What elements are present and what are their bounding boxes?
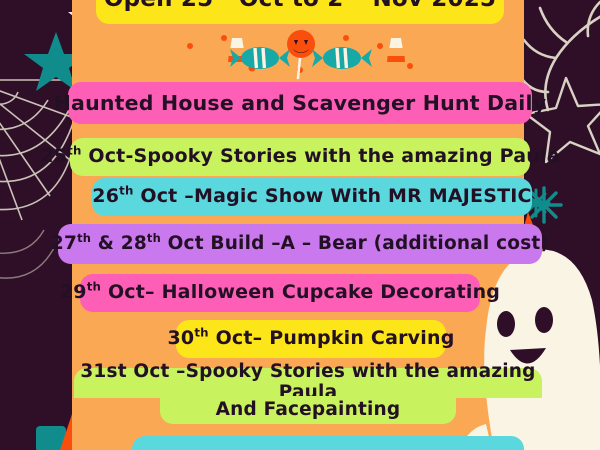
banner-oct-25-label: 25th Oct-Spooky Stories with the amazing… xyxy=(40,146,559,167)
banner-bottom-cutoff[interactable] xyxy=(132,436,524,450)
open-dates-text: Open 25th Oct to 2nd Nov 2025 xyxy=(104,0,496,13)
banner-oct-26-label: 26th Oct –Magic Show With MR MAJESTIC xyxy=(92,186,531,207)
banner-oct-29-label: 29th Oct– Halloween Cupcake Decorating xyxy=(60,282,500,303)
banner-oct-25[interactable]: 25th Oct-Spooky Stories with the amazing… xyxy=(70,138,530,176)
schedule-banner-stack: Open 25th Oct to 2nd Nov 2025 Haunted Ho… xyxy=(0,0,600,450)
banner-oct-30-label: 30th Oct– Pumpkin Carving xyxy=(168,328,455,349)
banner-haunted-house-label: Haunted House and Scavenger Hunt Daily xyxy=(54,92,547,115)
banner-open-dates[interactable]: Open 25th Oct to 2nd Nov 2025 xyxy=(96,0,504,24)
banner-oct-31-line2[interactable]: And Facepainting xyxy=(160,396,456,424)
banner-oct-31-line1[interactable]: 31st Oct –Spooky Stories with the amazin… xyxy=(74,368,542,398)
banner-haunted-house[interactable]: Haunted House and Scavenger Hunt Daily xyxy=(68,82,532,124)
banner-oct-30[interactable]: 30th Oct– Pumpkin Carving xyxy=(176,320,446,358)
banner-oct-27-28[interactable]: 27th & 28th Oct Build –A – Bear (additio… xyxy=(58,224,542,264)
halloween-poster: Open 25th Oct to 2nd Nov 2025 Haunted Ho… xyxy=(0,0,600,450)
banner-oct-31-label-line2: And Facepainting xyxy=(216,400,401,421)
banner-oct-26[interactable]: 26th Oct –Magic Show With MR MAJESTIC xyxy=(92,178,532,216)
banner-oct-27-28-label: 27th & 28th Oct Build –A – Bear (additio… xyxy=(51,234,549,255)
banner-oct-29[interactable]: 29th Oct– Halloween Cupcake Decorating xyxy=(80,274,480,312)
